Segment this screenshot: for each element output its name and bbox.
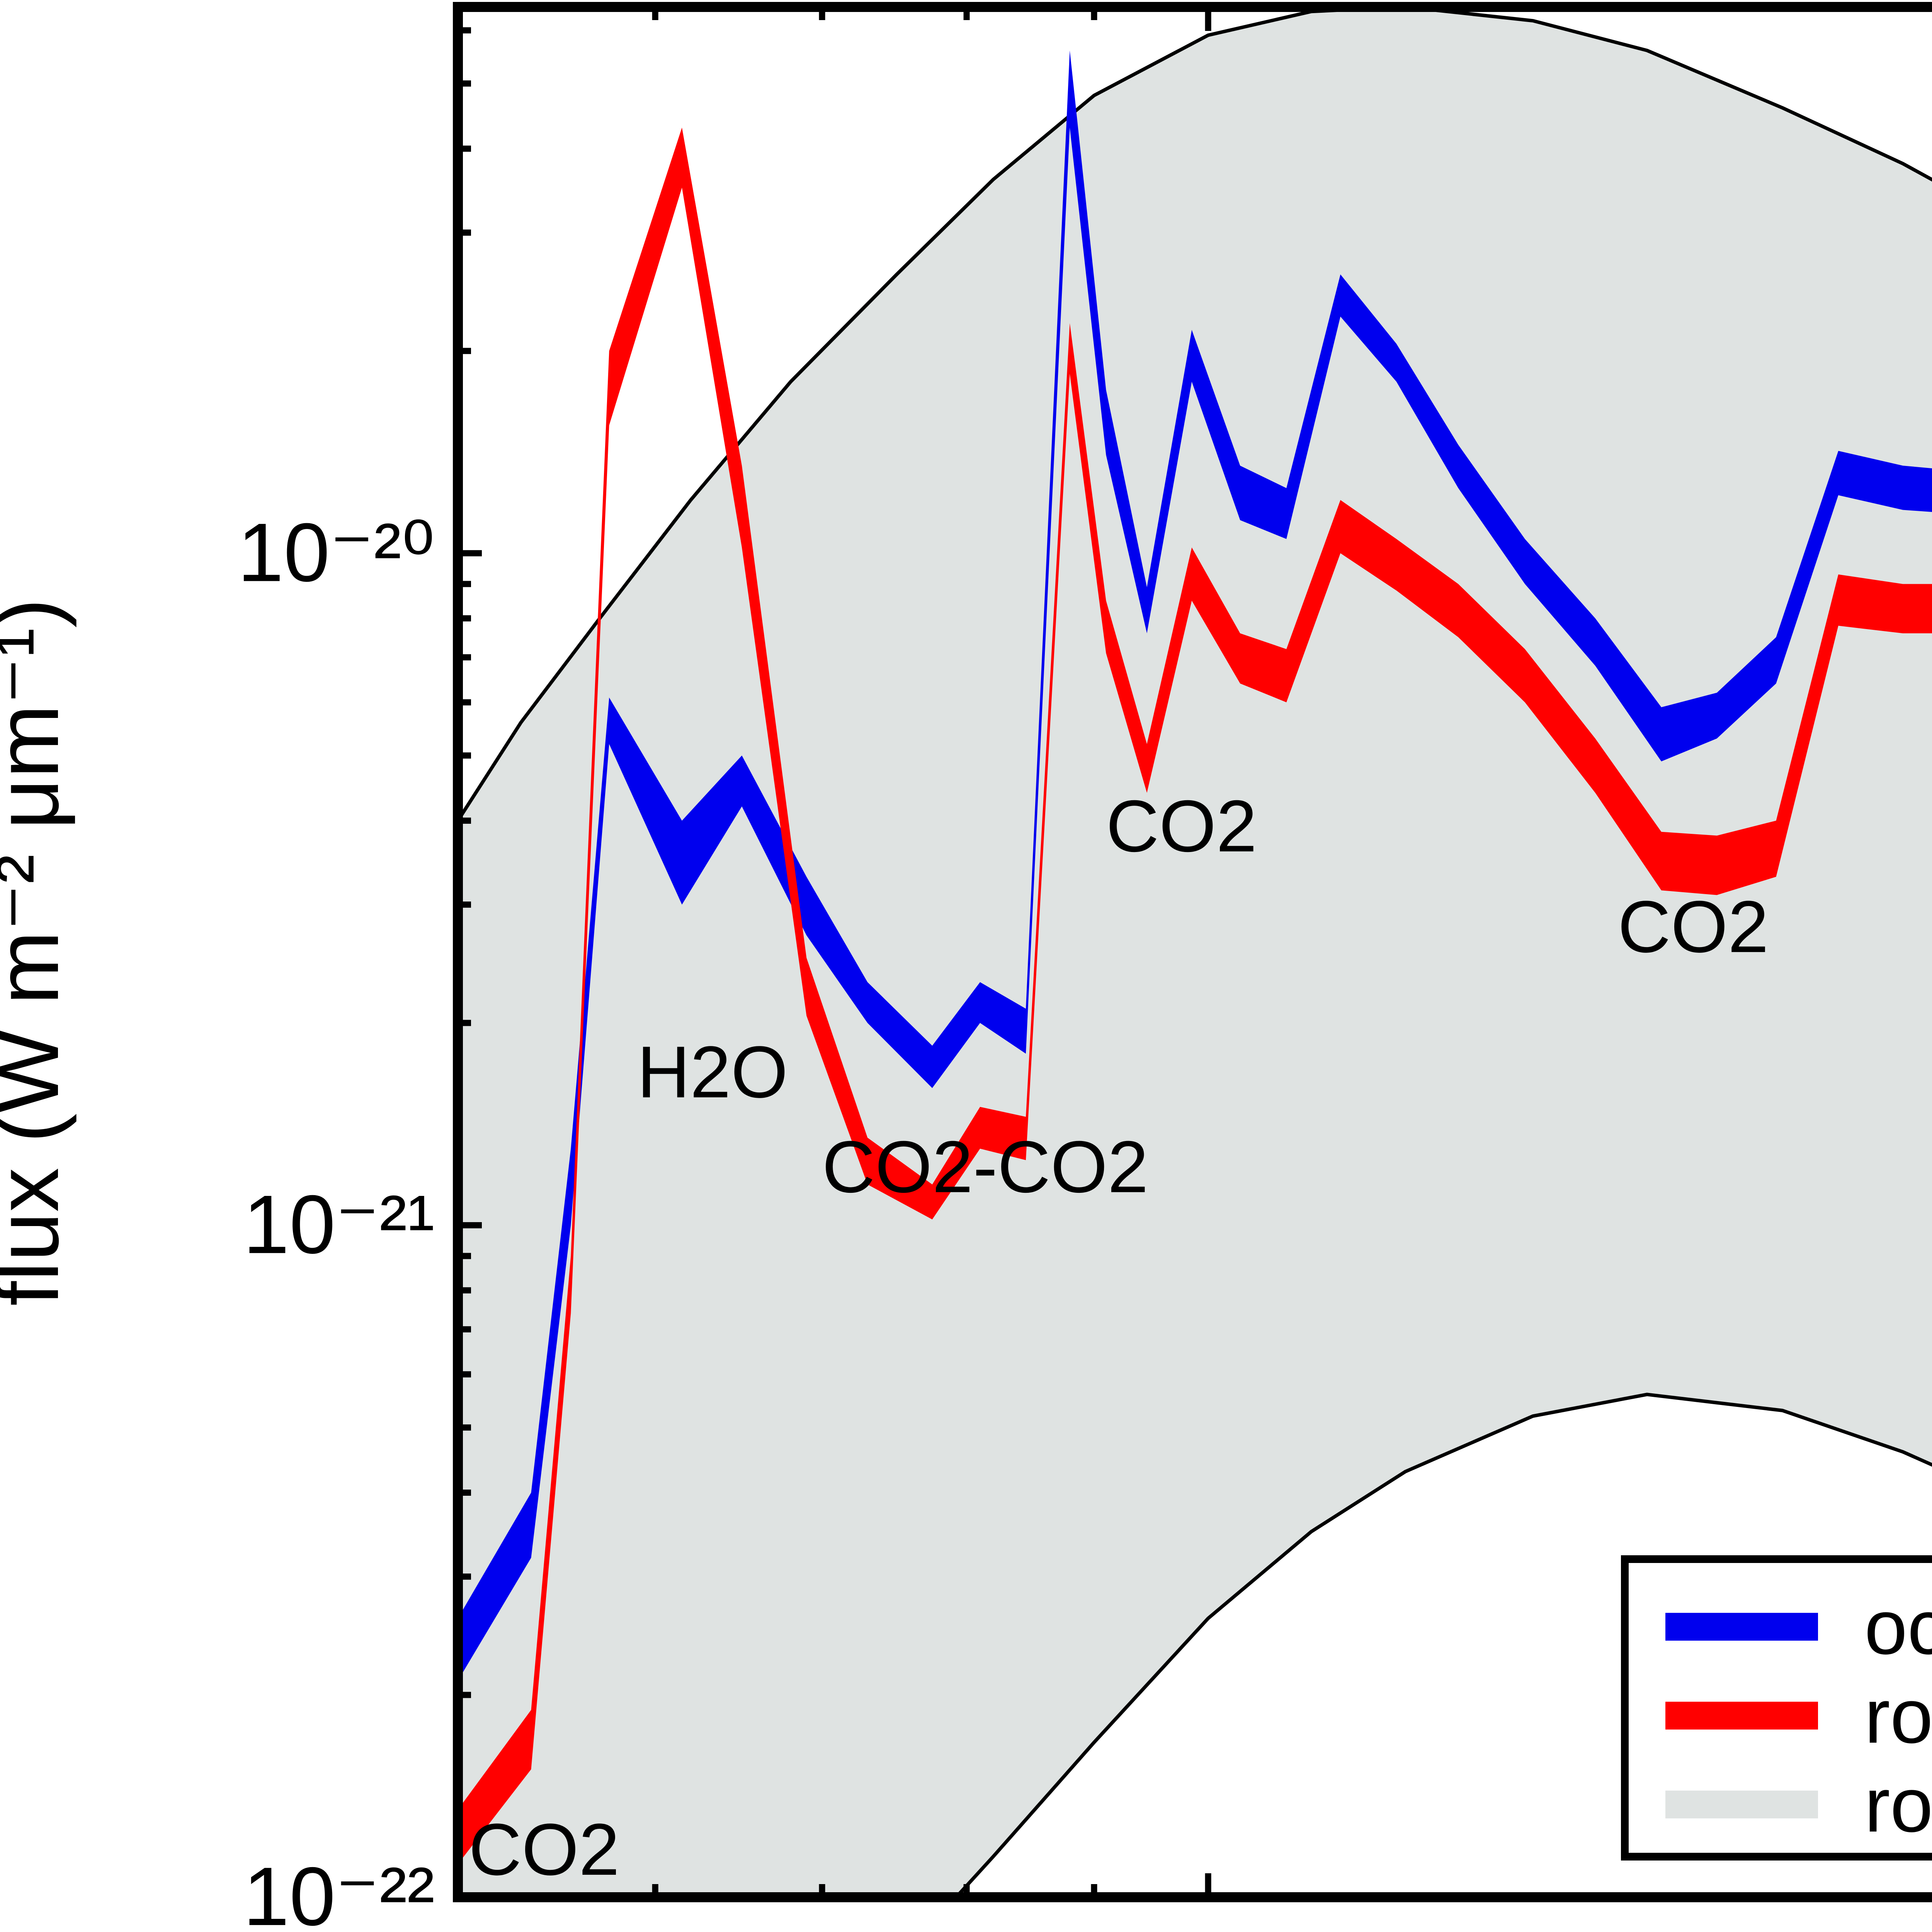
chart-svg: 5105010⁻²²10⁻²¹10⁻²⁰wavelength (μm)flux … xyxy=(0,0,1932,1932)
y-axis-title: flux (W m⁻² μm⁻¹) xyxy=(0,598,77,1306)
legend-label-ocean-20bar: ocean (20-bar atmosphere) xyxy=(1864,1584,1932,1670)
annotation-co2-co2: CO2-CO2 xyxy=(822,1126,1149,1208)
y-tick-label: 10⁻²⁰ xyxy=(238,506,435,599)
figure-root: 5105010⁻²²10⁻²¹10⁻²⁰wavelength (μm)flux … xyxy=(0,0,1932,1932)
y-tick-label: 10⁻²¹ xyxy=(243,1178,435,1271)
annotation-h2o: H2O xyxy=(637,1031,788,1113)
annotation-co2-left: CO2 xyxy=(469,1809,620,1891)
annotation-co2-mid: CO2 xyxy=(1106,785,1257,867)
legend[interactable]: ocean (20-bar atmosphere)rocky (20-bar a… xyxy=(1625,1559,1932,1857)
x-tick-label: 10 xyxy=(1162,1922,1254,1932)
y-tick-label: 10⁻²² xyxy=(243,1850,435,1932)
annotation-co2-right: CO2 xyxy=(1618,886,1769,968)
legend-label-rocky-20bar: rocky (20-bar atmosphere) xyxy=(1864,1673,1932,1759)
legend-label-rocky-airless: rocky (airless) xyxy=(1864,1762,1932,1848)
flux-spectrum-chart: 5105010⁻²²10⁻²¹10⁻²⁰wavelength (μm)flux … xyxy=(0,0,1932,1932)
x-tick-label: 5 xyxy=(435,1922,481,1932)
